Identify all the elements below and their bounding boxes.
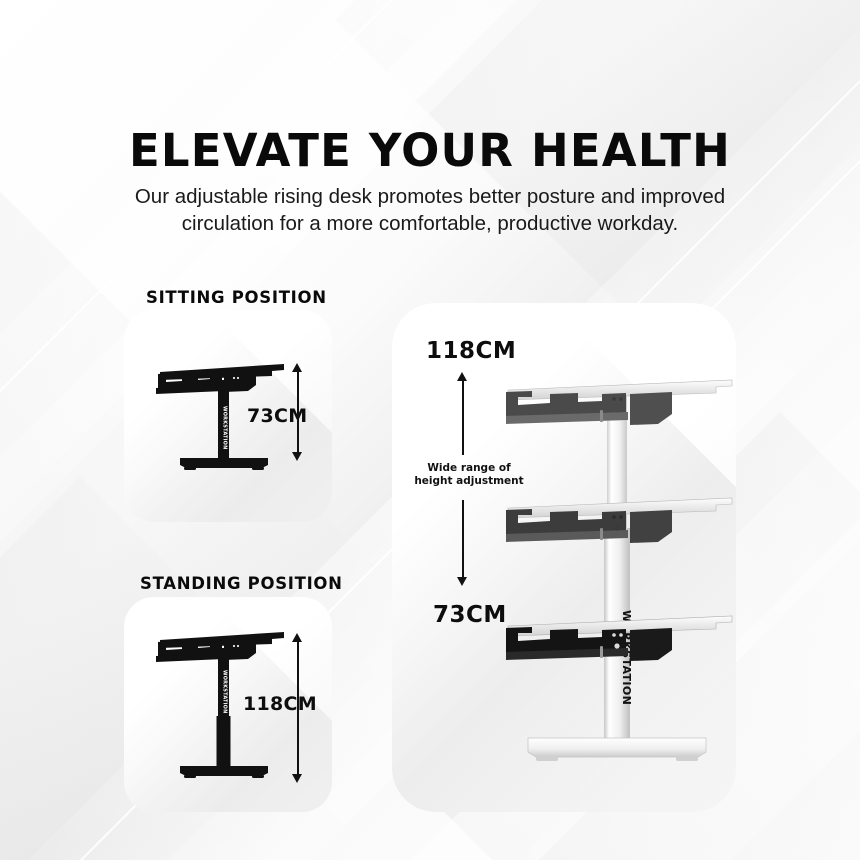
range-caption: Wide range of height adjustment	[410, 462, 528, 488]
range-lower-arrow-line	[462, 500, 464, 578]
range-arrow-down-head	[457, 577, 467, 586]
standing-dimension-arrow-line	[297, 641, 299, 775]
range-upper-arrow-line	[462, 380, 464, 455]
standing-arrow-down-head	[292, 774, 302, 783]
sitting-arrow-down-head	[292, 452, 302, 461]
range-arrow-up-head	[457, 372, 467, 381]
desk-illustration-range: WORKSTATION	[506, 378, 736, 778]
page-title: ELEVATE YOUR HEALTH	[0, 124, 860, 177]
desk-top-high	[506, 380, 732, 425]
sitting-arrow-up-head	[292, 363, 302, 372]
range-bottom-dimension: 73CM	[433, 602, 507, 628]
standing-dimension-value: 118CM	[243, 693, 317, 715]
range-caption-line1: Wide range of	[410, 462, 528, 475]
sitting-position-label: SITTING POSITION	[146, 288, 327, 307]
range-top-dimension: 118CM	[426, 338, 516, 364]
column-logo-text: WORKSTATION	[222, 670, 228, 714]
desk-base	[528, 738, 706, 761]
standing-position-label: STANDING POSITION	[140, 574, 343, 593]
column-logo-text: WORKSTATION	[222, 406, 228, 450]
desk-top-low	[506, 616, 732, 661]
range-caption-line2: height adjustment	[410, 475, 528, 488]
sitting-dimension-arrow-line	[297, 371, 299, 453]
page-subtitle: Our adjustable rising desk promotes bett…	[130, 183, 730, 237]
desk-top-mid	[506, 498, 732, 543]
standing-arrow-up-head	[292, 633, 302, 642]
